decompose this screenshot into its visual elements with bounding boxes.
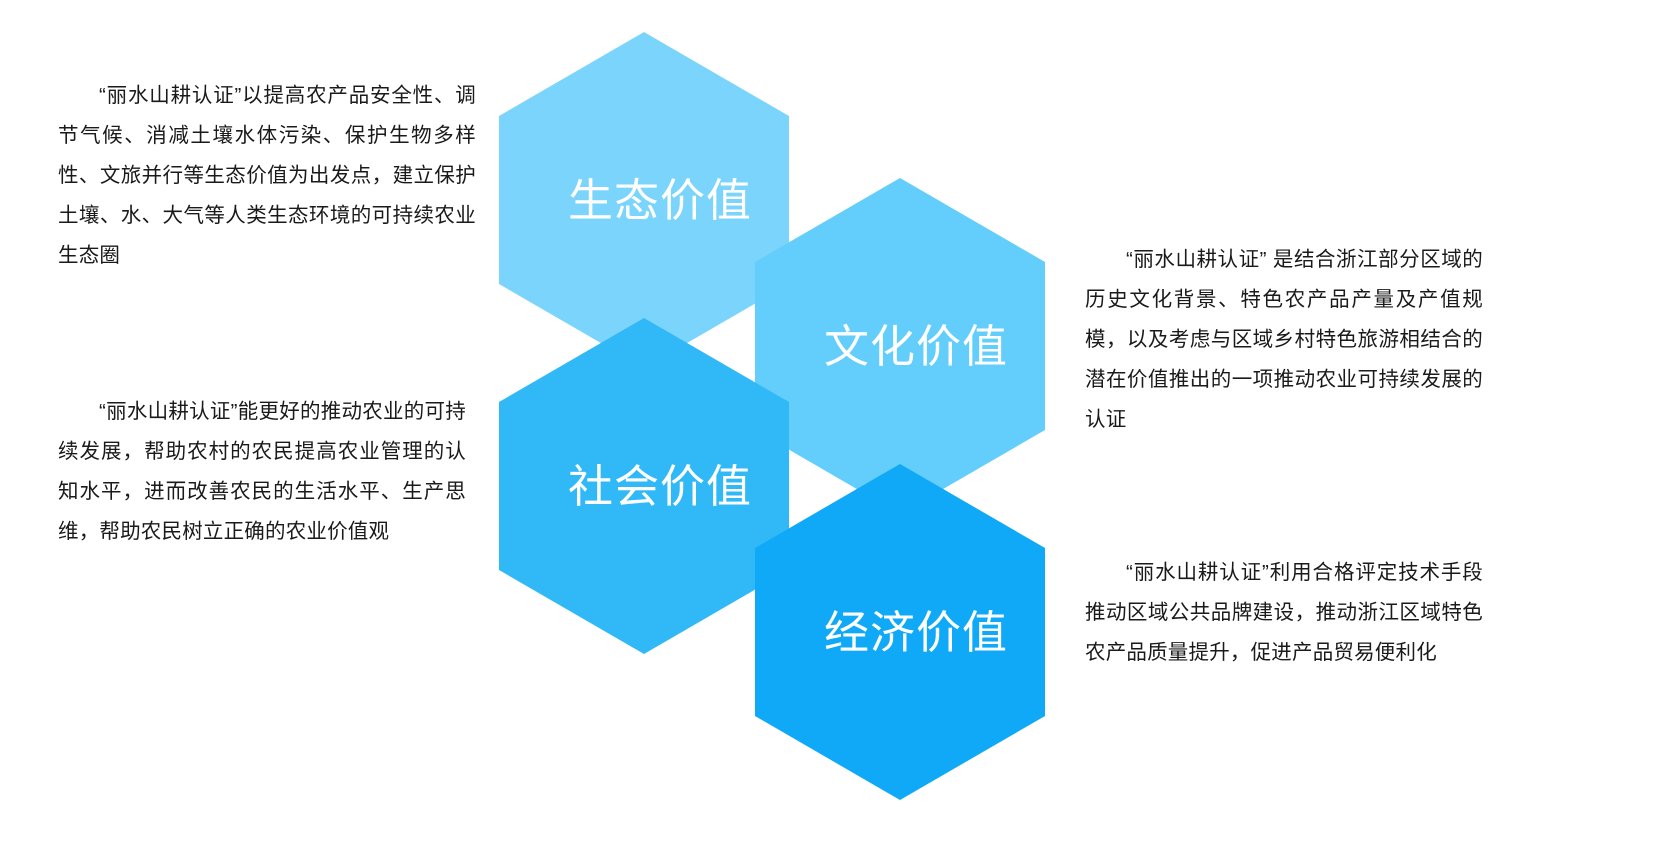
hexagon-cultural-label: 文化价值	[824, 324, 1008, 369]
hexagon-economic-label: 经济价值	[824, 610, 1008, 655]
description-ecological: “丽水山耕认证”以提高农产品安全性、调节气候、消减土壤水体污染、保护生物多样性、…	[58, 76, 476, 276]
hexagon-cluster: 生态价值 文化价值 社会价值 经济价值	[466, 18, 1086, 778]
description-social-text: “丽水山耕认证”能更好的推动农业的可持续发展，帮助农村的农民提高农业管理的认知水…	[58, 392, 466, 552]
description-economic: “丽水山耕认证”利用合格评定技术手段推动区域公共品牌建设，推动浙江区域特色农产品…	[1085, 553, 1483, 673]
description-social: “丽水山耕认证”能更好的推动农业的可持续发展，帮助农村的农民提高农业管理的认知水…	[58, 392, 466, 552]
hexagon-economic[interactable]: 经济价值	[755, 464, 1045, 800]
hexagon-ecological[interactable]: 生态价值	[499, 32, 789, 368]
description-cultural-text: “丽水山耕认证” 是结合浙江部分区域的历史文化背景、特色农产品产量及产值规模，以…	[1085, 240, 1483, 440]
hexagon-ecological-label: 生态价值	[568, 178, 752, 223]
description-cultural: “丽水山耕认证” 是结合浙江部分区域的历史文化背景、特色农产品产量及产值规模，以…	[1085, 240, 1483, 440]
hexagon-social[interactable]: 社会价值	[499, 318, 789, 654]
description-ecological-text: “丽水山耕认证”以提高农产品安全性、调节气候、消减土壤水体污染、保护生物多样性、…	[58, 76, 476, 276]
hexagon-social-label: 社会价值	[568, 464, 752, 509]
description-economic-text: “丽水山耕认证”利用合格评定技术手段推动区域公共品牌建设，推动浙江区域特色农产品…	[1085, 553, 1483, 673]
diagram-canvas: 生态价值 文化价值 社会价值 经济价值 “丽水山耕认证”以提高农产品安全性、调节…	[0, 0, 1654, 843]
hexagon-cultural[interactable]: 文化价值	[755, 178, 1045, 514]
